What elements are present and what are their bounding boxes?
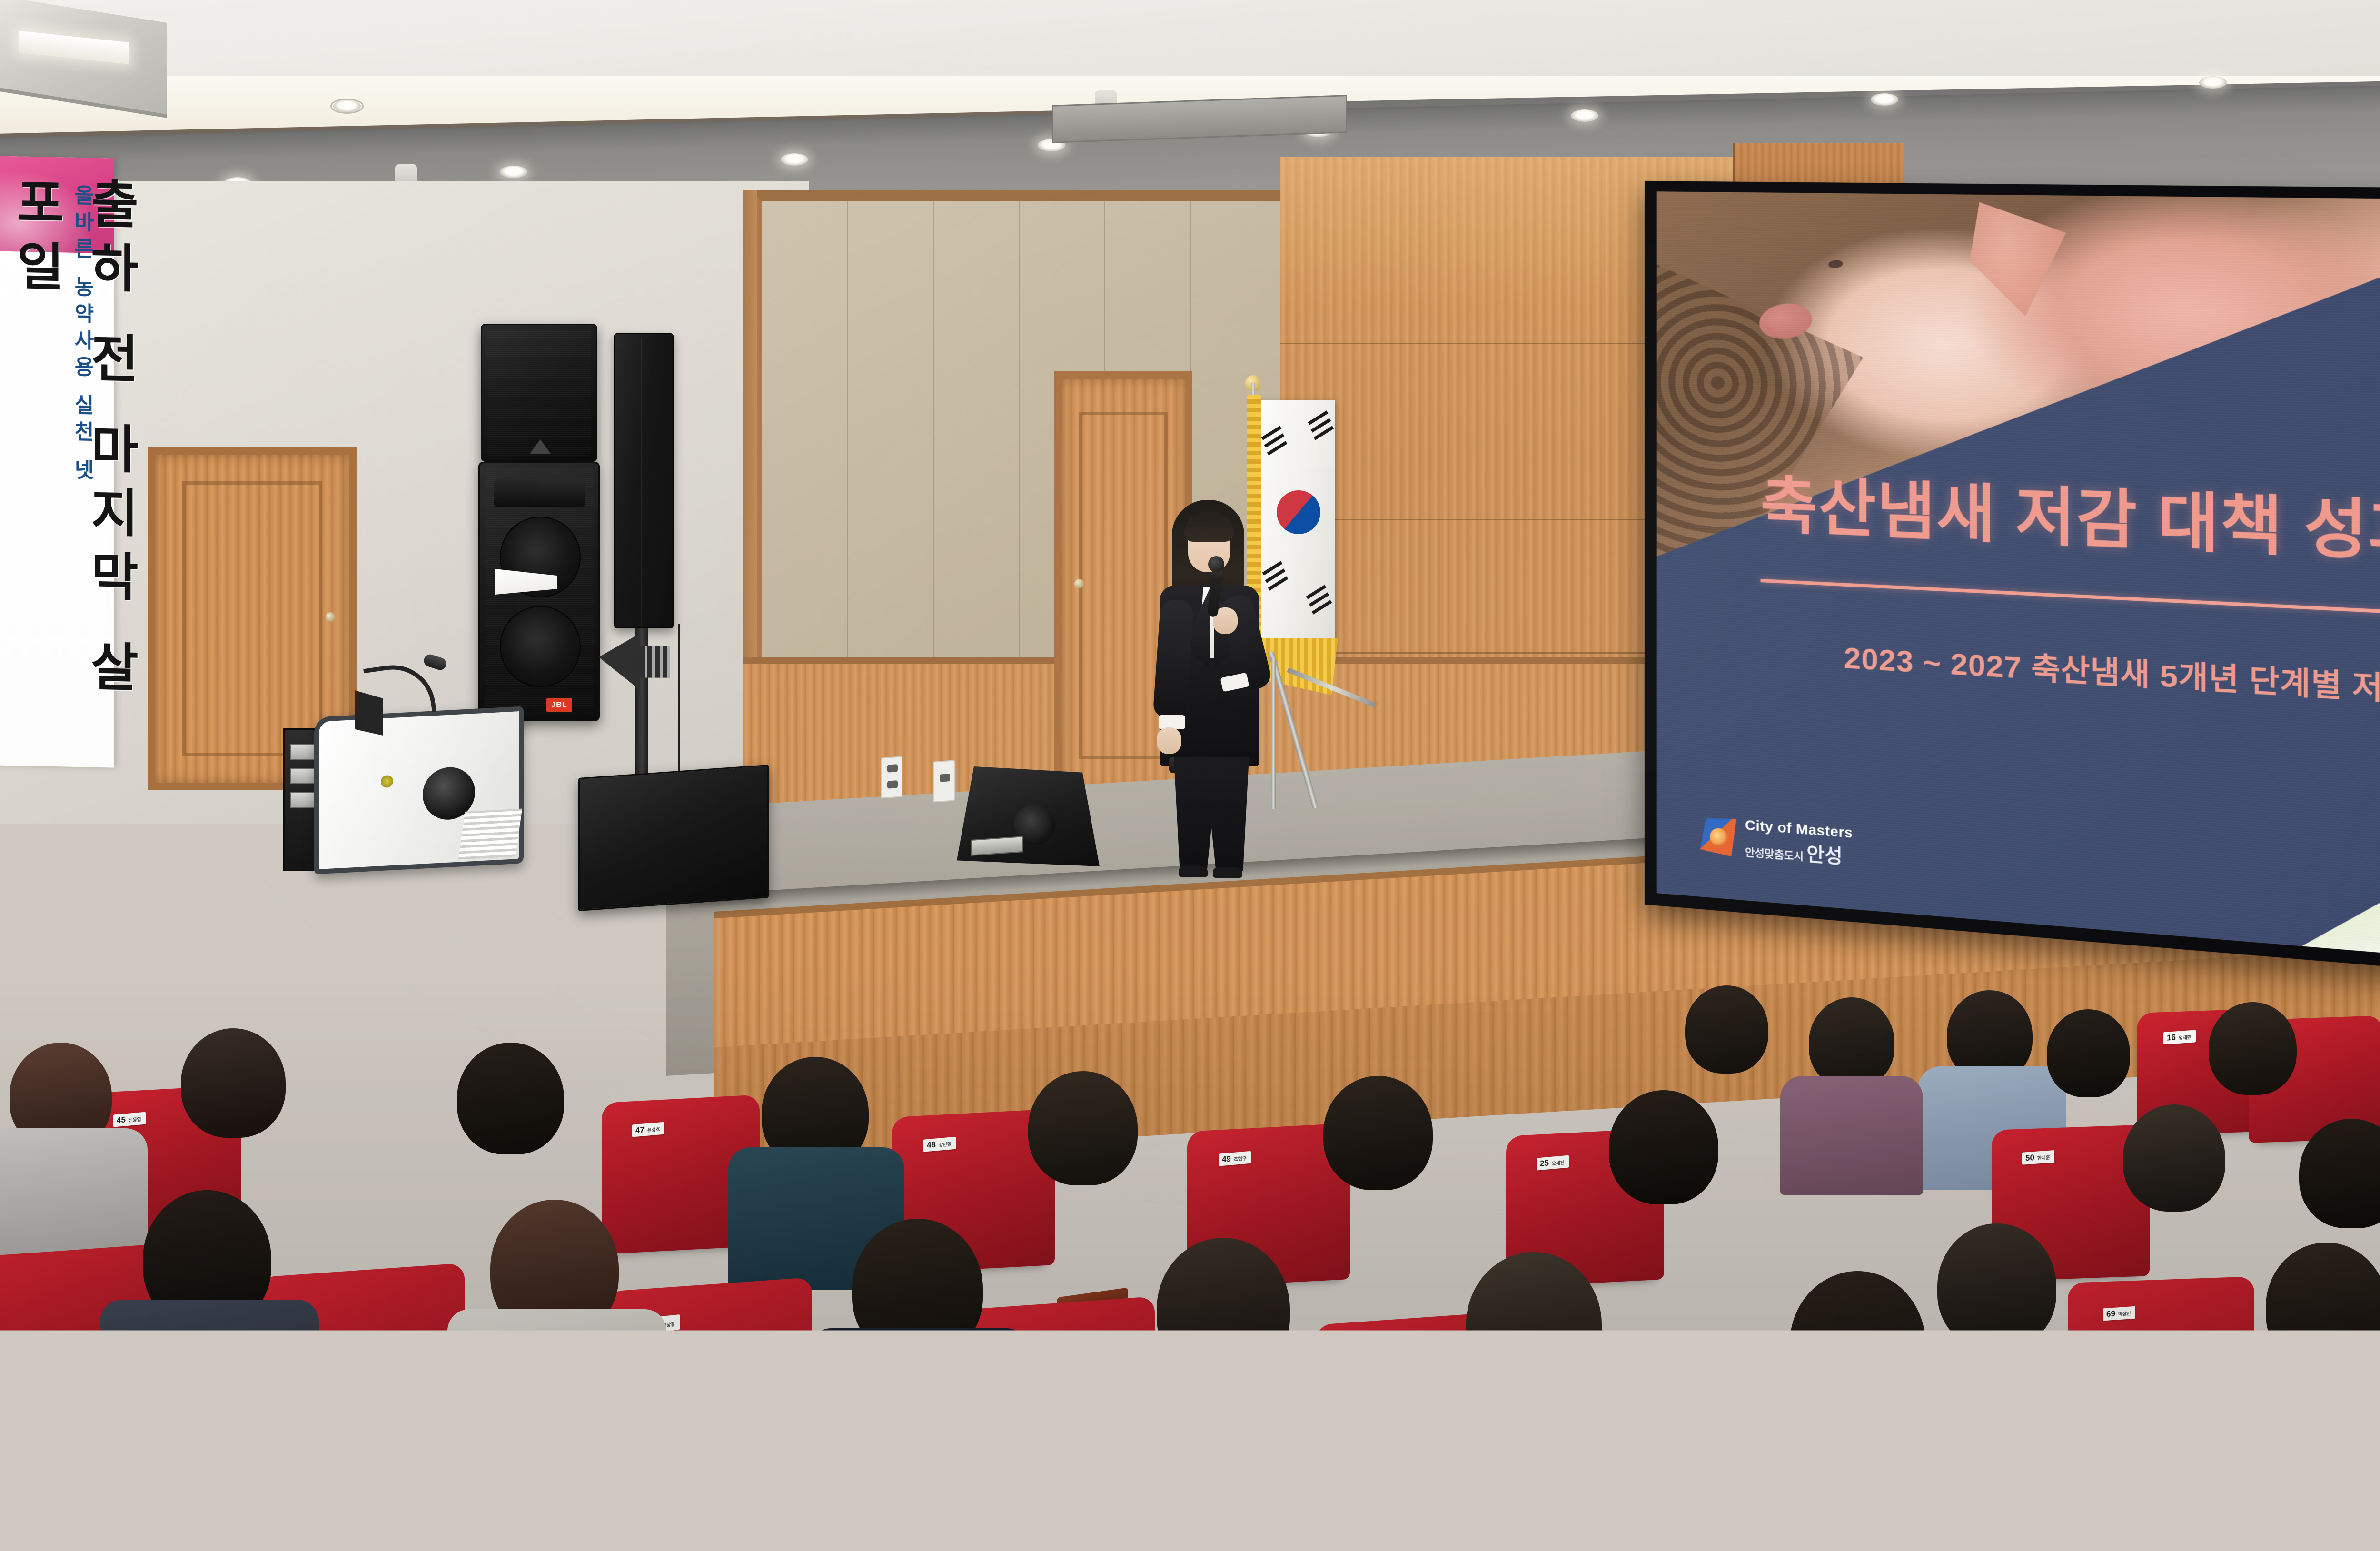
seat-number-tag: 25오세진 xyxy=(1537,1155,1569,1171)
seat-number-tag: 49조현우 xyxy=(1219,1151,1251,1166)
table-row[interactable] xyxy=(995,1478,1219,1551)
seat-number-tag: 45신동엽 xyxy=(113,1112,146,1127)
audience-head xyxy=(428,1381,585,1547)
slide-divider xyxy=(1760,579,2380,628)
audience-body xyxy=(1780,1076,1923,1195)
audience-head xyxy=(1685,985,1768,1074)
audience-head xyxy=(181,1028,286,1138)
pig-eye xyxy=(1828,259,1844,269)
speaker-grill xyxy=(487,330,591,456)
downlight-icon xyxy=(781,153,808,166)
audience-head xyxy=(2209,1002,2297,1095)
downlight-icon xyxy=(1871,93,1898,106)
slide-subtitle: 2023 ~ 2027 축산냄새 5개년 단계별 저감대책 xyxy=(1844,633,2380,714)
audience-head xyxy=(2266,1243,2380,1371)
audience-area: 16임재현 50한지훈 52정대현 47윤성호 48강민철 49조현우 xyxy=(0,743,2380,1551)
audience-head xyxy=(52,1366,209,1533)
door-panel xyxy=(182,481,322,756)
speaker-woofer-lower xyxy=(500,606,581,687)
seat-number-tag: 47윤성호 xyxy=(632,1122,664,1137)
seat-number-tag: 16임재현 xyxy=(2163,1030,2196,1044)
table-row[interactable] xyxy=(609,1459,833,1551)
vertical-banner: 출하 전 마지막 살포일 올바른 농약사용 실천 넷 xyxy=(0,156,114,767)
speaker-cabinet-main: JBL xyxy=(478,462,600,721)
audience-head xyxy=(1809,997,1894,1088)
audience-head xyxy=(1323,1076,1433,1190)
presenter-fringe xyxy=(1184,512,1234,542)
audience-head xyxy=(2047,1009,2130,1097)
presenter-eye-right xyxy=(1216,540,1222,542)
door-knob-icon[interactable] xyxy=(1074,579,1084,588)
table-row[interactable] xyxy=(1399,1497,1623,1551)
speaker-cabinet-top xyxy=(481,324,597,462)
downlight-ring xyxy=(330,99,364,114)
seat-number-tag: 50한지훈 xyxy=(2022,1150,2054,1165)
downlight-icon xyxy=(1571,109,1598,122)
table-row[interactable] xyxy=(2209,1535,2380,1551)
audience-head xyxy=(1937,1223,2056,1350)
presenter-eye-left xyxy=(1196,540,1202,542)
downlight-icon xyxy=(500,166,527,178)
door-knob-icon[interactable] xyxy=(326,612,335,622)
audience-head xyxy=(457,1043,564,1154)
audience-head xyxy=(1028,1071,1138,1185)
column-array-speaker xyxy=(614,333,674,628)
table-row[interactable]: 69박상민 xyxy=(2075,1283,2247,1460)
pig-ear xyxy=(1970,202,2066,317)
downlight-icon xyxy=(2199,76,2227,89)
microphone-capsule-icon xyxy=(1208,556,1224,572)
audience-head xyxy=(2123,1104,2225,1212)
auditorium-scene: 출하 전 마지막 살포일 올바른 농약사용 실천 넷 JBL xyxy=(0,0,2380,1551)
speaker-horn xyxy=(494,478,585,507)
banner-sub-text: 올바른 농약사용 실천 넷 xyxy=(67,184,97,486)
audience-head xyxy=(1609,1090,1718,1204)
jbl-brand-badge: JBL xyxy=(546,698,572,712)
table-row[interactable] xyxy=(209,1444,433,1551)
seat-number-tag: 69박상민 xyxy=(2103,1306,2135,1321)
wall-pillar xyxy=(743,190,757,666)
taeguk-symbol-icon xyxy=(1269,482,1329,542)
slide-title: 축산냄새 저감 대책 성과보고 xyxy=(1760,455,2380,581)
seat-number-tag: 48강민철 xyxy=(923,1137,956,1152)
